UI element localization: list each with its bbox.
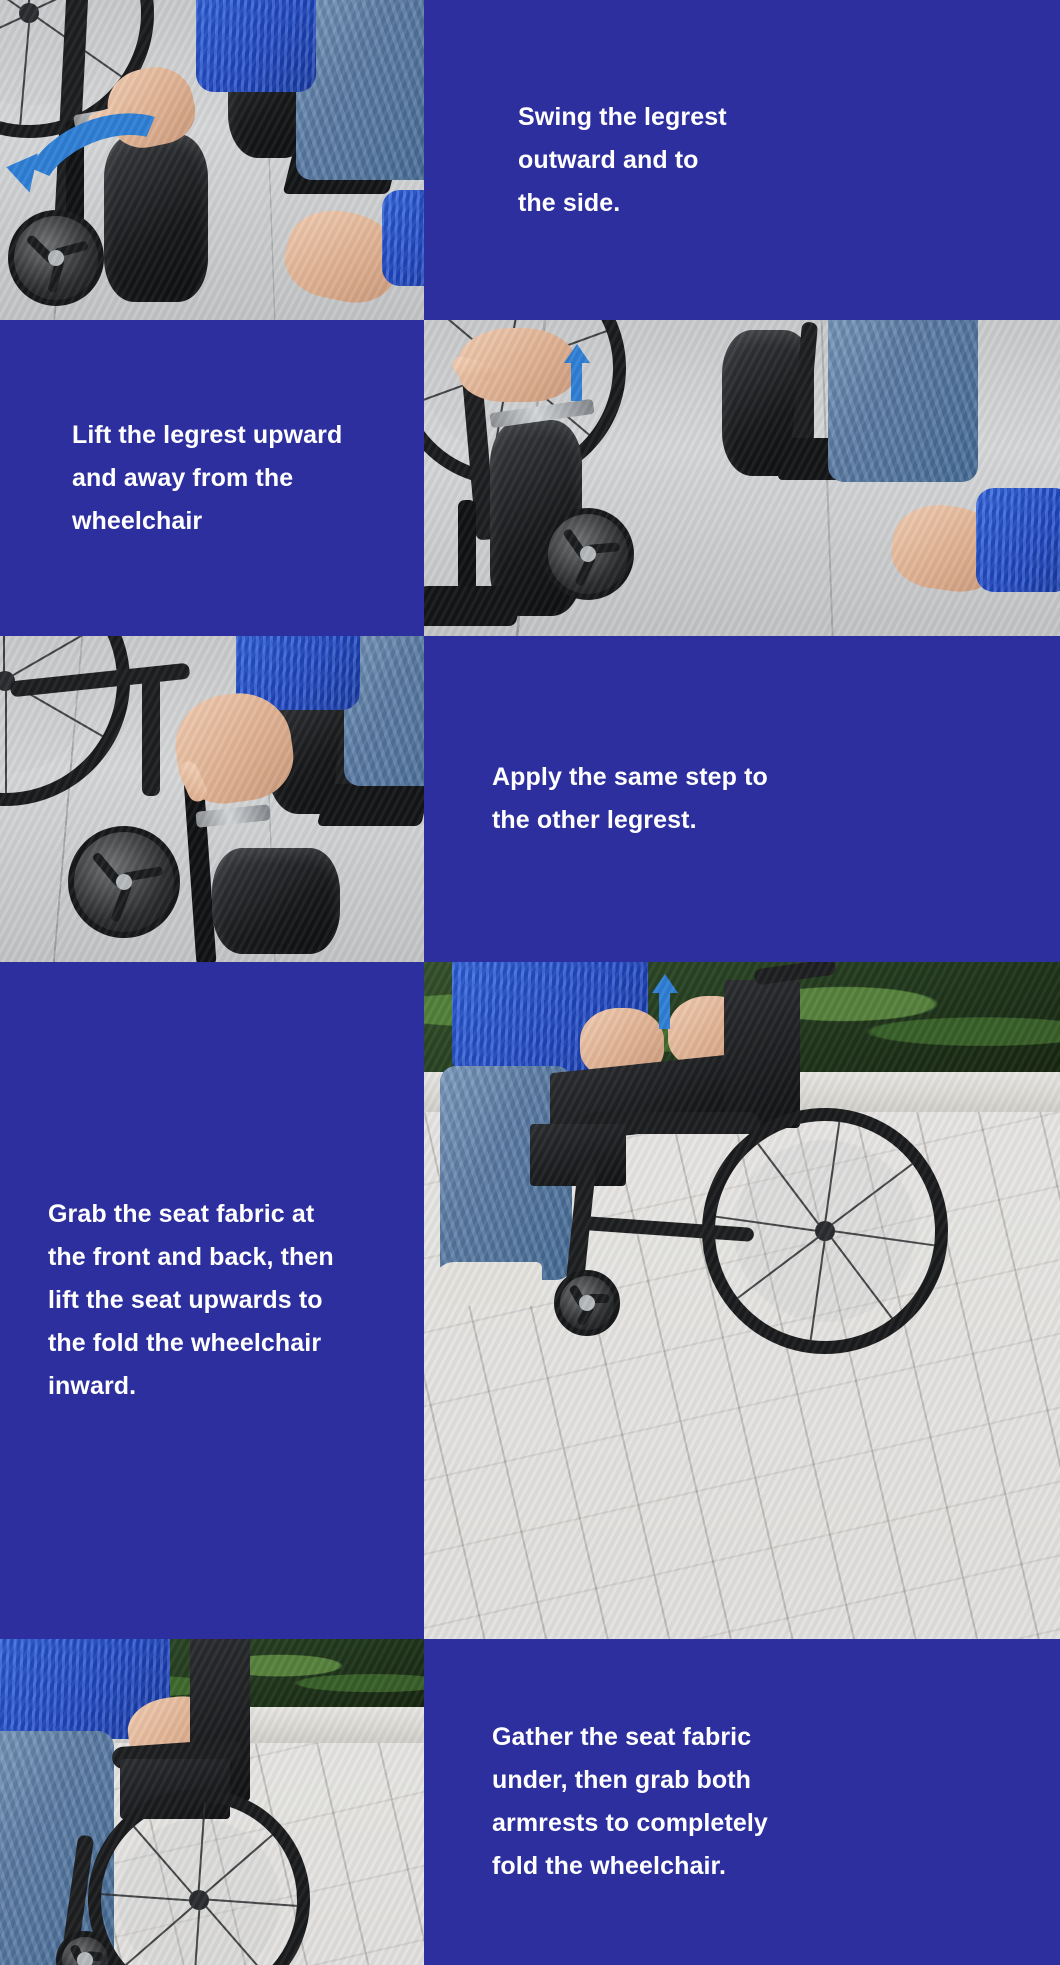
step-2-photo — [424, 320, 1060, 636]
step-3-photo — [0, 636, 424, 962]
front-caster-wheel — [68, 826, 180, 938]
step-2-caption-panel: Lift the legrest upward and away from th… — [0, 320, 424, 636]
step-1-caption: Swing the legrest outward and to the sid… — [424, 96, 767, 225]
wheelchair-frame-upright — [142, 676, 160, 796]
person-jeans — [828, 320, 978, 482]
step-3-caption-panel: Apply the same step to the other legrest… — [424, 636, 1060, 962]
up-arrow-icon — [564, 344, 590, 363]
person-sleeve-lower-right — [382, 190, 424, 286]
legrest-pad — [212, 848, 340, 954]
front-caster-wheel — [542, 508, 634, 600]
step-4-photo — [424, 962, 1060, 1639]
step-4-caption-panel: Grab the seat fabric at the front and ba… — [0, 962, 424, 1639]
up-arrow-stem-icon — [571, 363, 582, 401]
step-1-caption-panel: Swing the legrest outward and to the sid… — [424, 0, 1060, 320]
front-caster-wheel — [554, 1270, 620, 1336]
instruction-infographic: Swing the legrest outward and to the sid… — [0, 0, 1060, 1965]
step-5-caption: Gather the seat fabric under, then grab … — [424, 1716, 808, 1888]
footplate — [424, 586, 525, 626]
footplate — [317, 784, 424, 826]
person-sweater-sleeve — [196, 0, 316, 92]
step-2-caption: Lift the legrest upward and away from th… — [0, 414, 372, 543]
step-5-photo — [0, 1639, 424, 1965]
wheelchair-backrest — [724, 980, 800, 1128]
step-1-photo — [0, 0, 424, 320]
step-4-caption: Grab the seat fabric at the front and ba… — [0, 1193, 362, 1408]
up-arrow-stem-icon — [659, 993, 670, 1029]
person-sleeve — [976, 488, 1060, 592]
step-5-caption-panel: Gather the seat fabric under, then grab … — [424, 1639, 1060, 1965]
step-3-caption: Apply the same step to the other legrest… — [424, 756, 808, 842]
person-shoe — [434, 1262, 542, 1306]
up-arrow-icon — [652, 974, 678, 993]
